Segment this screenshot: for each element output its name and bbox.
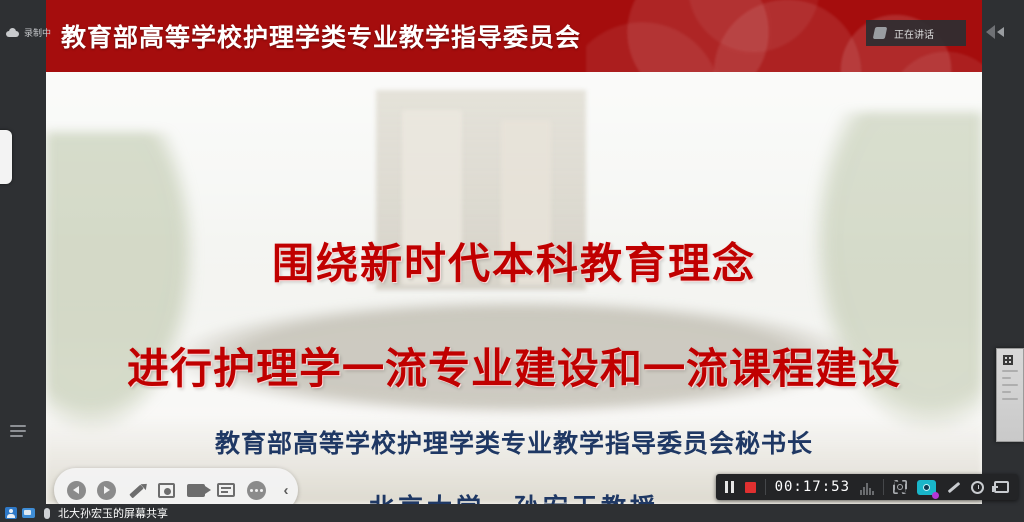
speaker-icon <box>873 27 888 39</box>
mini-panel-line <box>1002 391 1011 393</box>
speaking-label: 正在讲话 <box>894 26 934 41</box>
more-button[interactable] <box>242 476 270 504</box>
mini-panel-line <box>1002 384 1018 386</box>
spotlight-icon <box>158 483 175 498</box>
recorder-time-section: 00:17:53 <box>766 474 883 500</box>
camera-icon[interactable] <box>917 480 936 495</box>
recording-indicator: 录制中 <box>6 26 51 39</box>
slide-text-block: 围绕新时代本科教育理念 进行护理学一流专业建设和一流课程建设 教育部高等学校护理… <box>46 72 982 504</box>
slide-title-line-1: 围绕新时代本科教育理念 <box>46 230 982 291</box>
recording-label: 录制中 <box>24 26 51 39</box>
screen-share-icon[interactable] <box>22 507 35 520</box>
speaking-indicator: 正在讲话 <box>866 20 966 46</box>
recorder-transport-controls <box>716 474 765 500</box>
mini-panel-grid-icon <box>1003 355 1013 365</box>
left-rail <box>0 0 46 504</box>
play-button[interactable] <box>92 476 120 504</box>
pause-icon[interactable] <box>725 481 735 493</box>
mini-panel-line <box>1002 398 1018 400</box>
shared-screen-area: 教育部高等学校护理学类专业教学指导委员会 围绕新时代本科教育理念 进行护理学一流… <box>46 0 982 504</box>
previous-icon <box>67 481 86 500</box>
mini-panel-line <box>1002 377 1011 379</box>
spotlight-button[interactable] <box>152 476 180 504</box>
clock-icon[interactable] <box>971 481 984 494</box>
panel-handle[interactable] <box>0 130 12 184</box>
screen-share-window: 教育部高等学校护理学类专业教学指导委员会 围绕新时代本科教育理念 进行护理学一流… <box>0 0 1024 522</box>
screen-recorder-widget[interactable]: 00:17:53 <box>716 474 1018 500</box>
recorder-tools <box>884 474 1018 500</box>
participant-icon[interactable] <box>4 507 17 520</box>
ellipsis-icon <box>247 481 266 500</box>
annotate-button[interactable] <box>122 476 150 504</box>
slide-banner: 教育部高等学校护理学类专业教学指导委员会 <box>46 0 982 72</box>
elapsed-time: 00:17:53 <box>775 479 850 495</box>
mini-panel-line <box>1002 370 1018 372</box>
pencil-icon <box>128 482 144 498</box>
slide-title-line-2: 进行护理学一流专业建设和一流课程建设 <box>46 335 982 396</box>
collapse-button[interactable]: ‹ <box>272 476 300 504</box>
microphone-icon[interactable] <box>40 507 53 520</box>
chat-button[interactable] <box>212 476 240 504</box>
previous-button[interactable] <box>62 476 90 504</box>
slide-body: 围绕新时代本科教育理念 进行护理学一流专业建设和一流课程建设 教育部高等学校护理… <box>46 72 982 504</box>
video-camera-icon <box>187 484 205 497</box>
play-icon <box>97 481 116 500</box>
presentation-toolbar[interactable]: ‹ <box>54 468 298 504</box>
collapse-arrows-icon[interactable] <box>986 22 1020 42</box>
stop-icon[interactable] <box>745 482 756 493</box>
right-rail <box>982 0 1024 504</box>
audio-level-meter <box>860 480 874 495</box>
share-status-label: 北大孙宏玉的屏幕共享 <box>58 505 168 521</box>
crop-region-icon[interactable] <box>893 480 907 494</box>
status-bar: 北大孙宏玉的屏幕共享 <box>0 504 1024 522</box>
cloud-icon <box>6 28 19 37</box>
banner-title: 教育部高等学校护理学类专业教学指导委员会 <box>61 18 581 54</box>
list-menu-icon[interactable] <box>6 420 34 442</box>
window-icon[interactable] <box>994 481 1009 493</box>
video-button[interactable] <box>182 476 210 504</box>
chat-bubble-icon <box>217 483 235 497</box>
slide-subtitle-line-1: 教育部高等学校护理学类专业教学指导委员会秘书长 <box>46 424 982 460</box>
pen-icon[interactable] <box>946 480 961 495</box>
floating-mini-panel[interactable] <box>996 348 1024 442</box>
chevron-left-icon: ‹ <box>284 483 289 498</box>
